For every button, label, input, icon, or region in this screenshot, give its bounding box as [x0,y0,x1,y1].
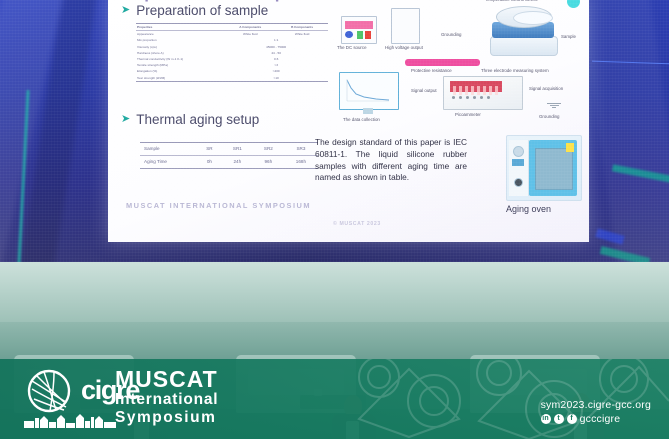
table-row: Tear strength (kN/M) >10 [136,75,328,82]
label-high-voltage-output: High voltage output [385,45,423,50]
light-beam [6,0,108,262]
oven-knob-icon [513,146,524,157]
measurement-curve-icon [346,78,390,102]
dc-source-display [345,21,373,29]
cell-aging-time: 24h [222,155,253,168]
cell-property: Appearance [136,31,224,38]
cell-property: Elongation (%) [136,68,224,74]
teal-accent-stripe [600,246,650,262]
col-a-components: A Components [224,24,276,31]
table-header-row: Properties A Components B Components [136,24,328,31]
ground-symbol-icon [547,102,561,108]
event-footer-band: cigre MUSCAT International Symposium sy [0,359,669,439]
stage-photo: cigre MUSCAT International Symposium sy [0,262,669,439]
light-beam [0,0,74,262]
cell-aging-label: Aging Time [140,155,197,168]
label-dc-source: The DC source [337,45,367,50]
cell-value-shared: 0.6 [224,56,328,62]
dc-source-indicator-icon [357,31,363,39]
cell-body [492,22,554,38]
arrow-bullet-icon: ➤ [121,114,130,125]
picoammeter-unit [443,76,523,110]
aging-table: Sample SR SR1 SR2 SR3 Aging Time 0h 24h … [140,142,318,169]
dc-source-indicator-icon [365,31,371,39]
cell-property: Mix proportion [136,37,224,43]
label-three-electrode-system: Three electrode measuring system [481,68,549,73]
bullet-label: Thermal aging setup [136,112,259,127]
experimental-setup-diagram: The DC source High voltage output Protec… [333,0,589,130]
cell-value-b: White fluid [276,31,328,38]
teal-accent-stripe [612,164,669,182]
teal-accent-stripe [17,90,29,262]
table-row: Appearance White fluid White fluid [136,31,328,38]
arrow-bullet-icon: ➤ [121,5,130,16]
cell-value-shared: >10 [224,75,328,82]
table-header-row: Sample SR SR1 SR2 SR3 [140,143,318,156]
table-row: Viscosity (cps) 45000 - 75000 [136,44,328,50]
slide-copyright: © MUSCAT 2023 [333,221,381,227]
label-protective-resistance: Protective resistance [411,68,452,73]
label-data-collection: The data collection [343,117,380,122]
cell-value-shared: >200 [224,68,328,74]
light-beam [573,0,669,262]
event-title-block: MUSCAT International Symposium [115,368,218,426]
cell-aging-time: 168h [284,155,318,168]
social-handle-label: gcccigre [580,413,621,425]
cell-ring [513,11,553,25]
event-title-symposium: Symposium [115,409,218,426]
table-row: Tensile strength (MPa) >3 [136,62,328,68]
cell-property: Tensile strength (MPa) [136,62,224,68]
bullet-preparation-of-sample: ➤ Preparation of sample [121,3,268,18]
table-row: Hardness (shore A) 44 - 50 [136,50,328,56]
cigre-globe-icon [26,369,72,417]
symposium-dot-logo-icon [567,0,580,8]
table-row: Mix proportion 1:1 [136,37,328,43]
table-row: Thermal conductivity (W m-1 K-1) 0.6 [136,56,328,62]
muscat-skyline-icon [24,412,116,428]
presentation-slide: Experimental Setup ➤ Preparation of samp… [108,0,589,242]
event-title-international: International [115,391,218,408]
cell-value-shared: 1:1 [224,37,328,43]
cell-lid [496,6,552,28]
label-sample: Sample [561,34,576,39]
oven-door [535,148,573,190]
event-website-url[interactable]: sym2023.cigre-gcc.org [541,399,651,411]
properties-table: Properties A Components B Components App… [136,23,328,82]
cell-value-shared: 44 - 50 [224,50,328,56]
cell-sample-label: Sample [140,143,197,156]
cell-property: Hardness (shore A) [136,50,224,56]
label-grounding-top: Grounding [441,32,462,37]
projection-wall: Experimental Setup ➤ Preparation of samp… [0,0,669,262]
dc-source-dial-icon [345,31,353,38]
protective-resistance-element [405,59,480,66]
cell-aging-time: 0h [197,155,222,168]
aging-oven-caption: Aging oven [506,204,551,214]
dc-source-unit [341,16,377,44]
footer-contact-block: sym2023.cigre-gcc.org in t f gcccigre [541,399,651,425]
design-standard-paragraph: The design standard of this paper is IEC… [315,137,467,184]
linkedin-icon[interactable]: in [541,414,551,424]
cell-property: Thermal conductivity (W m-1 K-1) [136,56,224,62]
screenshot-root: Experimental Setup ➤ Preparation of samp… [0,0,669,439]
twitter-icon[interactable]: t [554,414,564,424]
cell-property: Tear strength (kN/M) [136,75,224,82]
cell-sample: SR3 [284,143,318,156]
picoammeter-buttons [452,96,490,99]
cell-sample: SR1 [222,143,253,156]
label-picoammeter: Picoammeter [455,112,481,117]
label-grounding-bottom: Grounding [539,114,560,119]
picoammeter-display [450,81,502,92]
oven-power-button-icon [514,178,523,187]
oven-display [512,159,524,166]
monitor-screen [339,72,399,110]
social-handle-row: in t f gcccigre [541,413,651,425]
label-temperature-control-device: Temperature control device [485,0,538,2]
high-voltage-unit [391,8,420,44]
label-signal-acquisition: Signal acquisition [529,86,563,91]
cell-value-a: White fluid [224,31,276,38]
cell-value-shared: >3 [224,62,328,68]
bullet-label: Preparation of sample [136,3,268,18]
label-signal-output: Signal output [411,88,437,93]
cell-value-shared: 45000 - 75000 [224,44,328,50]
table-row: Aging Time 0h 24h 96h 168h [140,155,318,168]
cell-sample: SR2 [253,143,284,156]
monitor-stand [363,108,373,114]
oven-warning-label-icon [566,143,574,152]
slide-footer-text: MUSCAT INTERNATIONAL SYMPOSIUM [126,201,311,210]
aging-oven-image [506,135,582,201]
data-collection-computer [339,72,397,114]
cell-property: Viscosity (cps) [136,44,224,50]
col-properties: Properties [136,24,224,31]
blue-accent-stripe [595,228,624,244]
oven-body [529,140,577,196]
cell-aging-time: 96h [253,155,284,168]
bullet-thermal-aging-setup: ➤ Thermal aging setup [121,112,259,127]
slide-title: Experimental Setup [123,0,285,3]
event-title-muscat: MUSCAT [115,368,218,391]
col-b-components: B Components [276,24,328,31]
table-row: Elongation (%) >200 [136,68,328,74]
oven-control-panel [509,140,529,196]
wall-hairline [592,61,669,65]
cell-base [490,36,558,56]
facebook-icon[interactable]: f [567,414,577,424]
three-electrode-cell [488,6,558,58]
cell-sample: SR [197,143,222,156]
